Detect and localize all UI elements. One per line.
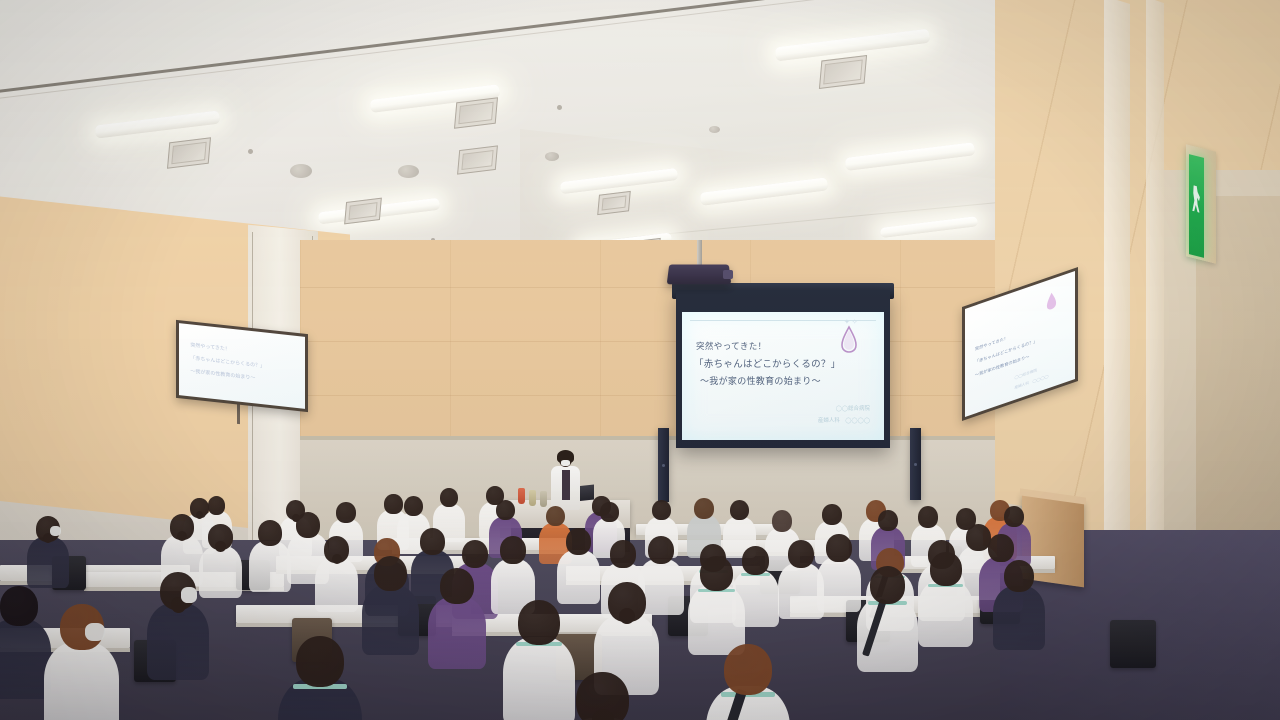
projector: [667, 264, 732, 284]
audience-member-head: [826, 534, 852, 562]
ceiling-vent-icon: [344, 198, 382, 225]
audience-member-torso: [993, 586, 1045, 650]
audience-member-torso: [857, 597, 918, 673]
audience-member-torso: [817, 557, 862, 612]
audience-member-head: [742, 546, 769, 575]
audience-member-head: [296, 636, 344, 687]
audience-member-torso: [362, 585, 419, 655]
audience-member-head: [500, 536, 526, 564]
left-speaker-column: [658, 428, 669, 502]
slide-artwork-icon: [836, 324, 862, 354]
smoke-detector-icon: [248, 149, 253, 154]
audience-member-head: [462, 540, 488, 568]
audience-member-torso: [503, 637, 576, 720]
audience-member-head: [610, 540, 636, 568]
projection-screen-slide: ✦ ✧ 突然やってきた！ 「赤ちゃんはどこからくるの？」 〜我が家の性教育の始ま…: [682, 312, 884, 440]
audience-member-torso: [688, 585, 745, 655]
audience-member-head: [730, 500, 749, 520]
audience-member-torso: [147, 603, 209, 680]
audience-member-head: [822, 504, 842, 525]
audience-member-torso: [918, 580, 973, 647]
water-bottle: [540, 491, 547, 507]
ceiling-vent-icon: [597, 191, 631, 215]
ceiling-vent-icon: [819, 55, 867, 89]
audience-member-head: [0, 586, 38, 626]
left-monitor-line-3: 〜我が家の性教育の始まり〜: [190, 368, 255, 382]
audience-member-head: [648, 536, 674, 564]
audience-member-head: [1004, 560, 1034, 592]
audience-member-head: [208, 496, 225, 515]
audience-member-head: [404, 496, 423, 516]
audience-member-head: [878, 510, 898, 531]
presenter-inner-top: [562, 470, 570, 500]
audience-member-head: [384, 494, 403, 514]
ceiling-vent-icon: [454, 97, 498, 129]
audience-member-head: [420, 528, 445, 555]
ceiling-vent-icon: [457, 145, 498, 174]
audience-member-torso: [27, 537, 69, 588]
slide-line-1: 突然やってきた！: [696, 340, 767, 352]
right-monitor-artwork-icon: [1043, 287, 1060, 314]
water-bottle: [529, 490, 536, 506]
audience-member-head: [988, 534, 1014, 562]
audience-member-torso: [249, 541, 291, 592]
audience-member-head: [296, 512, 320, 538]
audience-member-head: [694, 498, 714, 519]
audience-member-head: [1004, 506, 1024, 527]
left-monitor-line-1: 突然やってきた！: [190, 342, 230, 353]
slide-line-2: 「赤ちゃんはどこからくるの？」: [694, 356, 841, 370]
presenter-face-mask: [561, 460, 570, 466]
audience-member-head: [600, 502, 619, 522]
audience-member-torso: [315, 558, 359, 612]
audience-member-head: [546, 506, 565, 526]
seminar-room-photo: ✦ ✧ 突然やってきた！ 「赤ちゃんはどこからくるの？」 〜我が家の性教育の始ま…: [0, 0, 1280, 720]
audience-member-torso: [199, 546, 242, 598]
face-mask: [181, 587, 198, 602]
hair-bun: [215, 541, 225, 551]
projector-mount: [697, 240, 702, 266]
audience-chair: [1110, 620, 1156, 668]
face-mask: [50, 526, 61, 536]
audience-member-head: [788, 540, 814, 568]
front-wall-wood-panel: [300, 240, 1000, 450]
left-wall-monitor: 突然やってきた！ 「赤ちゃんはどこからくるの？」 〜我が家の性教育の始まり〜: [176, 320, 308, 412]
audience-member-head: [518, 600, 560, 645]
audience-member-head: [870, 566, 905, 604]
water-bottle: [518, 488, 525, 504]
ceiling-speaker-icon: [398, 165, 419, 178]
audience-member-head: [700, 556, 733, 591]
audience-member-head: [652, 500, 671, 520]
face-mask: [85, 623, 105, 642]
audience-member-head: [566, 528, 591, 555]
audience-member-head: [374, 556, 407, 591]
smoke-detector-icon: [557, 105, 562, 110]
audience-member-torso: [557, 550, 601, 604]
ceiling-vent-icon: [167, 137, 211, 169]
right-speaker-column: [910, 428, 921, 500]
slide-credit-line-2: 産婦人科 ◯◯◯◯: [818, 416, 870, 424]
audience-member-torso: [44, 642, 119, 720]
audience-member-head: [336, 502, 356, 523]
audience-member-head: [930, 552, 962, 586]
audience-member-head: [440, 488, 458, 507]
audience-member-torso: [428, 597, 486, 669]
slide-line-3: 〜我が家の性教育の始まり〜: [700, 374, 821, 387]
audience-member-head: [918, 506, 938, 528]
audience-member-head: [440, 568, 474, 604]
projector-lens-icon: [723, 270, 733, 279]
slide-credit-line-1: ◯◯総合病院: [836, 404, 870, 412]
audience-member-head: [772, 510, 792, 532]
audience-member-head: [496, 500, 515, 520]
left-monitor-line-2: 「赤ちゃんはどこからくるの？」: [190, 355, 265, 370]
audience-member-head: [724, 644, 772, 695]
audience-member-head: [258, 520, 282, 546]
